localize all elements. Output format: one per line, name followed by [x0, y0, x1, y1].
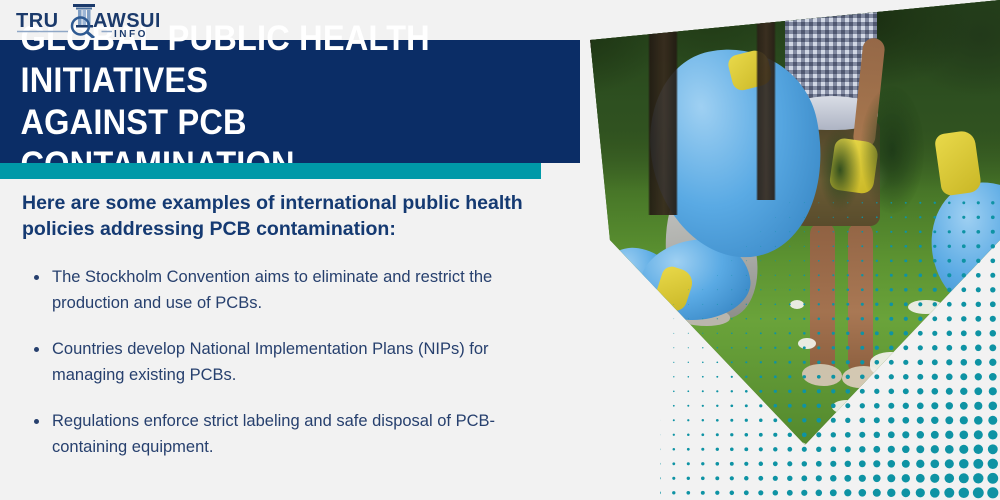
litter-item [668, 330, 684, 340]
logo-text-tru: TRU [16, 10, 59, 32]
litter-item [798, 338, 816, 349]
litter-item [656, 398, 678, 410]
standing-person-skirt [794, 122, 880, 226]
trash-bag-left [596, 246, 675, 323]
crouching-person-legs [655, 169, 764, 325]
trash-bag-small [636, 234, 754, 325]
list-item: The Stockholm Convention aims to elimina… [22, 264, 542, 316]
standing-person-shoe-right [842, 366, 882, 388]
crouching-person-torso [683, 160, 771, 228]
glove-icon-left [652, 264, 695, 314]
glove-icon-lower [829, 137, 880, 195]
standing-person-leg-right [848, 222, 873, 372]
photo-panel [540, 0, 1000, 500]
crouching-person-shoe [676, 308, 730, 326]
infographic-canvas: GLOBAL PUBLIC HEALTH INITIATIVES AGAINST… [0, 0, 1000, 500]
logo-text-info: INFO [114, 29, 148, 38]
glove-icon-right [934, 130, 982, 197]
litter-item [730, 470, 770, 488]
glove-icon-upper [726, 48, 774, 93]
content-block: Here are some examples of international … [22, 190, 542, 480]
title-banner: GLOBAL PUBLIC HEALTH INITIATIVES AGAINST… [0, 40, 580, 163]
policy-bullet-list: The Stockholm Convention aims to elimina… [22, 264, 542, 460]
page-title: GLOBAL PUBLIC HEALTH INITIATIVES AGAINST… [0, 18, 539, 186]
standing-person-arm [852, 37, 885, 149]
standing-person-shirt-knot [786, 96, 878, 130]
trash-bag-main [632, 33, 842, 274]
park-cleanup-photo [540, 0, 1000, 500]
trash-bag-right [926, 177, 1000, 318]
litter-item [892, 352, 922, 374]
list-item: Regulations enforce strict labeling and … [22, 408, 542, 460]
litter-item [832, 400, 862, 414]
site-logo[interactable]: TRU AWSUIT INFO [14, 3, 159, 38]
litter-item [870, 352, 922, 378]
litter-item [754, 440, 810, 464]
litter-item [690, 416, 712, 428]
standing-person-shirt [785, 0, 877, 122]
litter-item [908, 300, 944, 314]
intro-paragraph: Here are some examples of international … [22, 190, 542, 242]
standing-person-shoe-left [802, 364, 842, 386]
list-item: Countries develop National Implementatio… [22, 336, 542, 388]
standing-person-leg-left [810, 222, 835, 372]
litter-item [624, 410, 650, 424]
column-icon [73, 4, 95, 28]
litter-item [790, 300, 804, 309]
accent-bar [0, 163, 541, 179]
